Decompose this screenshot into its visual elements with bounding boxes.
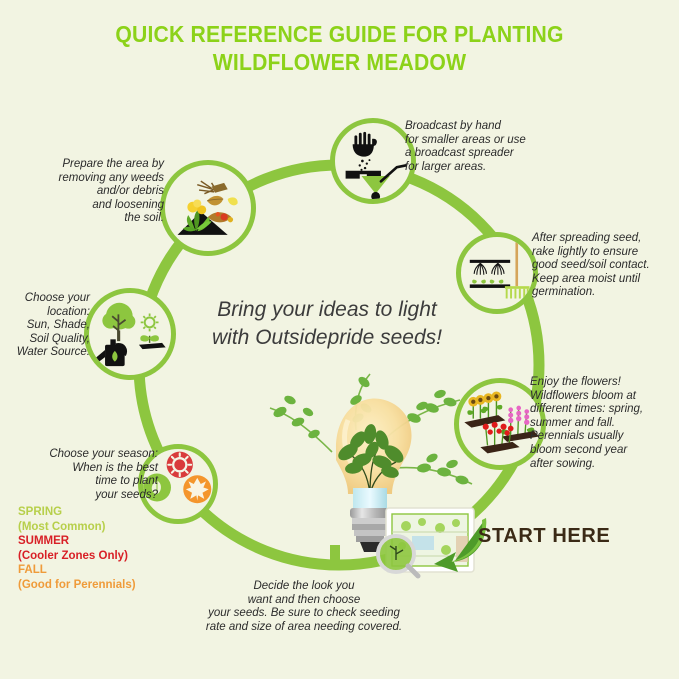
step-caption-rake-and-water: After spreading seed, rake lightly to en…: [532, 232, 678, 300]
hand-sowing-spreader-icon: [335, 123, 411, 199]
step-caption-decide-look: Decide the look you want and then choose…: [188, 580, 420, 634]
step-caption-prepare-area: Prepare the area by removing any weeds a…: [48, 158, 164, 226]
step-caption-enjoy-flowers: Enjoy the flowers! Wildflowers bloom at …: [530, 376, 678, 471]
step-caption-choose-location: Choose your location: Sun, Shade, Soil Q…: [6, 292, 90, 360]
season-options-list: SPRING (Most Common) SUMMER (Cooler Zone…: [18, 505, 178, 592]
step-node-choose-location[interactable]: [84, 288, 176, 380]
season-option-spring-note: (Most Common): [18, 520, 178, 535]
center-tagline: Bring your ideas to light with Outsidepr…: [182, 296, 472, 352]
infographic-canvas: QUICK REFERENCE GUIDE FOR PLANTING WILDF…: [0, 0, 679, 679]
season-option-spring-name: SPRING: [18, 505, 178, 520]
season-option-summer-name: SUMMER: [18, 534, 178, 549]
step-node-broadcast-seed[interactable]: [330, 118, 416, 204]
step-node-prepare-area[interactable]: [160, 160, 256, 256]
season-option-summer-note: (Cooler Zones Only): [18, 549, 178, 564]
season-option-fall-note: (Good for Perennials): [18, 578, 178, 593]
weeds-debris-soil-icon: [165, 165, 251, 251]
start-here-label: START HERE: [478, 525, 610, 548]
tree-sun-wateringcan-icon: [89, 293, 171, 375]
step-caption-broadcast-seed: Broadcast by hand for smaller areas or u…: [405, 120, 555, 174]
season-option-fall-name: FALL: [18, 563, 178, 578]
step-caption-choose-season: Choose your season: When is the best tim…: [14, 448, 158, 502]
